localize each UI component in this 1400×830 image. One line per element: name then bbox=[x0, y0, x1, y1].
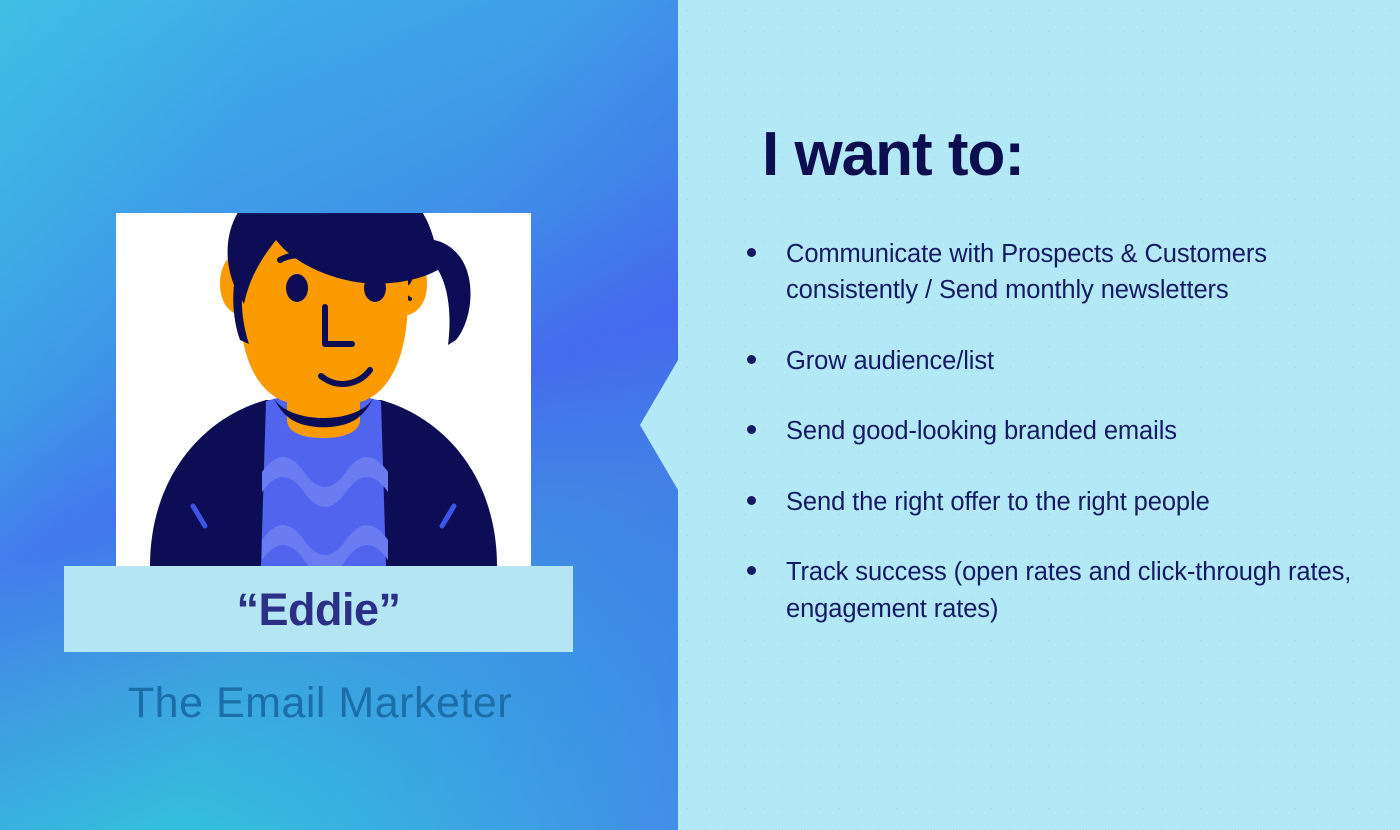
page-title: I want to: bbox=[762, 124, 1024, 186]
list-item-label: Track success (open rates and click-thro… bbox=[786, 558, 1351, 622]
persona-name-band: “Eddie” bbox=[64, 566, 573, 652]
list-item-label: Send the right offer to the right people bbox=[786, 488, 1210, 516]
persona-slide: “Eddie” The Email Marketer I want to: Co… bbox=[0, 0, 1400, 830]
persona-left-panel: “Eddie” The Email Marketer bbox=[0, 0, 678, 830]
persona-right-panel: I want to: Communicate with Prospects & … bbox=[678, 0, 1400, 830]
wants-list: Communicate with Prospects & Customers c… bbox=[744, 236, 1384, 627]
bullet-dot-icon bbox=[747, 248, 756, 257]
list-item: Send good-looking branded emails bbox=[744, 413, 1384, 449]
bullet-dot-icon bbox=[747, 496, 756, 505]
bullet-dot-icon bbox=[747, 566, 756, 575]
male-avatar-illustration bbox=[116, 100, 531, 566]
list-item-label: Send good-looking branded emails bbox=[786, 417, 1177, 445]
bullet-dot-icon bbox=[747, 425, 756, 434]
list-item: Grow audience/list bbox=[744, 343, 1384, 379]
list-item: Send the right offer to the right people bbox=[744, 484, 1384, 520]
persona-name: “Eddie” bbox=[236, 587, 400, 632]
list-item: Track success (open rates and click-thro… bbox=[744, 554, 1384, 627]
list-item-label: Grow audience/list bbox=[786, 347, 994, 375]
left-pointing-arrow-notch-icon bbox=[640, 360, 678, 490]
list-item: Communicate with Prospects & Customers c… bbox=[744, 236, 1384, 309]
bullet-dot-icon bbox=[747, 355, 756, 364]
list-item-label: Communicate with Prospects & Customers c… bbox=[786, 240, 1267, 304]
persona-role: The Email Marketer bbox=[0, 680, 640, 727]
